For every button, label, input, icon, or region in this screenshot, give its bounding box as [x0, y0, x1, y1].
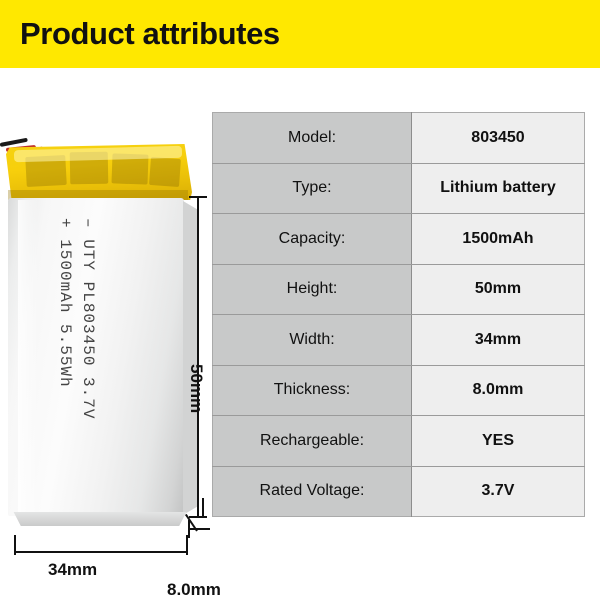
spec-value-cell: 34mm	[412, 315, 585, 366]
table-row: Type:Lithium battery	[213, 163, 585, 214]
spec-label-cell: Width:	[213, 315, 412, 366]
table-row: Thickness:8.0mm	[213, 365, 585, 416]
thickness-leader-line	[202, 498, 204, 516]
spec-value-cell: 8.0mm	[412, 365, 585, 416]
table-row: Capacity:1500mAh	[213, 214, 585, 265]
width-dimension-tick-left	[14, 535, 16, 555]
spec-label-cell: Thickness:	[213, 365, 412, 416]
table-row: Rechargeable:YES	[213, 416, 585, 467]
height-dimension-line	[197, 196, 199, 518]
spec-label-cell: Capacity:	[213, 214, 412, 265]
width-dimension-label: 34mm	[48, 560, 97, 580]
height-dimension-tick-top	[189, 196, 207, 198]
spec-value-cell: 50mm	[412, 264, 585, 315]
thickness-dimension-label: 8.0mm	[167, 580, 221, 600]
height-dimension-tick-bottom	[189, 516, 207, 518]
battery-body-sheen	[18, 200, 38, 512]
product-photo: – UTY PL803450 3.7V + 1500mAh 5.55Wh 50m…	[0, 68, 212, 600]
specifications-table: Model:803450Type:Lithium batteryCapacity…	[212, 112, 585, 517]
spec-label-cell: Rechargeable:	[213, 416, 412, 467]
width-dimension-line	[14, 551, 188, 553]
spec-label-cell: Type:	[213, 163, 412, 214]
battery-printed-label-line2: + 1500mAh 5.55Wh	[56, 218, 74, 388]
battery-printed-label-line1: – UTY PL803450 3.7V	[79, 218, 97, 419]
table-row: Width:34mm	[213, 315, 585, 366]
spec-value-cell: 803450	[412, 113, 585, 164]
height-dimension-label: 50mm	[186, 364, 206, 413]
spec-value-cell: 3.7V	[412, 466, 585, 517]
tape-fold	[149, 157, 181, 187]
spec-value-cell: YES	[412, 416, 585, 467]
spec-label-cell: Height:	[213, 264, 412, 315]
table-row: Rated Voltage:3.7V	[213, 466, 585, 517]
spec-label-cell: Rated Voltage:	[213, 466, 412, 517]
spec-label-cell: Model:	[213, 113, 412, 164]
battery-bottom-face	[10, 512, 190, 526]
header-banner: Product attributes	[0, 0, 600, 68]
spec-value-cell: 1500mAh	[412, 214, 585, 265]
table-row: Model:803450	[213, 113, 585, 164]
table-row: Height:50mm	[213, 264, 585, 315]
page-title: Product attributes	[20, 16, 280, 52]
thickness-dimension-line	[188, 528, 210, 530]
spec-value-cell: Lithium battery	[412, 163, 585, 214]
width-dimension-tick-right	[186, 535, 188, 555]
